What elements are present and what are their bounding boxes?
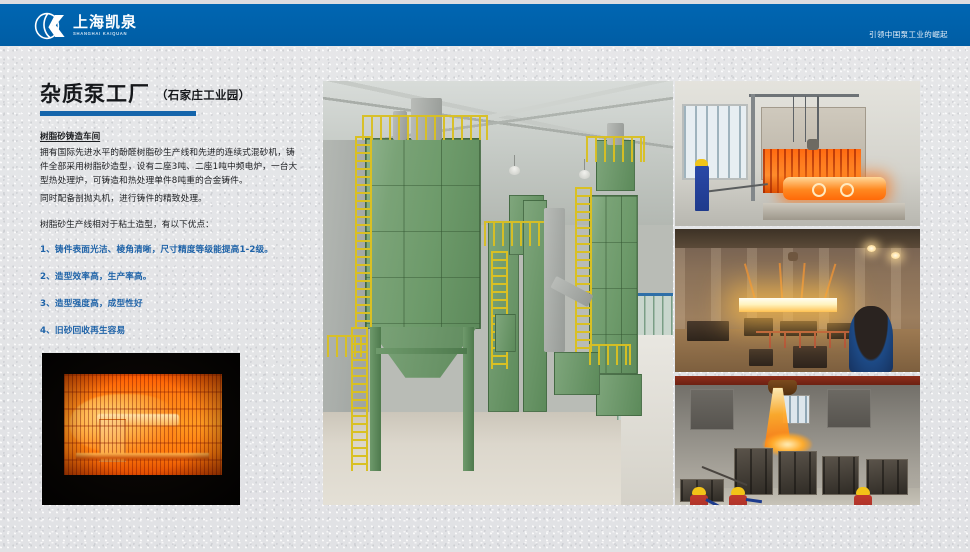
- sand-mold-box: [822, 456, 859, 495]
- safety-railing: [589, 344, 631, 365]
- list-item: 1、铸件表面光洁、棱角清晰，尺寸精度等级能提高1-2级。: [40, 244, 302, 257]
- worker: [695, 165, 709, 211]
- list-item: 3、造型强度高，成型性好: [40, 298, 302, 311]
- silo-panel-grid: [366, 139, 480, 328]
- section-heading: 树脂砂铸造车间: [40, 130, 302, 142]
- advantages-intro: 树脂砂生产线相对于粘土造型，有以下优点：: [40, 219, 302, 233]
- advantages-list: 1、铸件表面光洁、棱角清晰，尺寸精度等级能提高1-2级。 2、造型效率高，生产率…: [40, 244, 302, 338]
- wall-panel: [690, 389, 734, 430]
- mold-ribs: [823, 457, 858, 494]
- overhead-crane-girder: [675, 376, 920, 385]
- safety-helmet: [731, 487, 745, 495]
- safety-helmet: [692, 487, 706, 495]
- safety-helmet: [856, 487, 870, 495]
- kaiquan-k-logo-icon: [34, 12, 68, 40]
- shop-ceiling: [675, 229, 920, 248]
- sand-mold-box: [778, 451, 817, 495]
- silo-cross-brace: [376, 348, 467, 354]
- sand-silo-main: [365, 138, 481, 329]
- list-item: 2、造型效率高，生产率高。: [40, 271, 302, 284]
- brand-logo[interactable]: 上海凯泉 SHANGHAI KAIQUAN: [34, 12, 137, 40]
- crane-hook: [788, 252, 798, 261]
- brand-name-en: SHANGHAI KAIQUAN: [73, 32, 137, 36]
- slide-canvas: 上海凯泉 SHANGHAI KAIQUAN 引领中国泵工业的崛起 杂质泵工厂 （…: [0, 0, 970, 552]
- white-hot-workpiece: [739, 298, 837, 312]
- worker-torso: [854, 495, 872, 505]
- safety-railing: [586, 136, 646, 161]
- photo-vignette: [42, 353, 240, 505]
- right-machine-base: [596, 374, 642, 416]
- crane-cable: [793, 96, 795, 142]
- furnace-charge-table: [763, 203, 905, 220]
- stacked-mold-box: [749, 349, 774, 366]
- title-underline-rule: [40, 111, 196, 116]
- brand-wordmark: 上海凯泉 SHANGHAI KAIQUAN: [73, 15, 137, 36]
- photo-sand-plant: [323, 81, 673, 505]
- shop-window: [682, 104, 748, 179]
- wall-panel: [827, 389, 871, 428]
- list-item: 4、旧砂回收再生容易: [40, 325, 302, 338]
- worker-foreground: [849, 306, 893, 372]
- crane-cable: [817, 96, 819, 142]
- safety-railing: [327, 335, 362, 356]
- hall-lamp: [509, 166, 520, 175]
- stacked-mold-box: [687, 321, 729, 341]
- mold-ribs: [779, 452, 816, 494]
- photo-crane-lift: [675, 229, 920, 372]
- page-subtitle: （石家庄工业园）: [156, 87, 250, 105]
- access-ladder: [575, 187, 592, 357]
- body-paragraph-1: 拥有国际先进水平的酚醛树脂砂生产线和先进的连续式混砂机，铸件全部采用树脂砂造型，…: [40, 146, 302, 188]
- page-title: 杂质泵工厂: [40, 84, 150, 105]
- mold-ribs: [867, 460, 907, 494]
- body-paragraph-2: 同时配备剖抛丸机，进行铸件的精致处理。: [40, 192, 302, 206]
- safety-barrier: [756, 331, 859, 348]
- safety-railing: [362, 115, 488, 140]
- text-column: 杂质泵工厂 （石家庄工业园） 树脂砂铸造车间 拥有国际先进水平的酚醛树脂砂生产线…: [40, 84, 302, 352]
- stacked-mold-box: [793, 346, 827, 367]
- page-title-row: 杂质泵工厂 （石家庄工业园）: [40, 84, 302, 105]
- safety-helmet: [695, 159, 708, 166]
- header-tagline: 引领中国泵工业的崛起: [869, 29, 948, 40]
- photo-furnace-interior: [42, 353, 240, 505]
- ceiling-lamp: [867, 245, 876, 252]
- brand-name-cn: 上海凯泉: [73, 15, 137, 30]
- access-ladder: [355, 136, 372, 327]
- site-header: 上海凯泉 SHANGHAI KAIQUAN 引领中国泵工业的崛起: [0, 4, 970, 46]
- sand-mold-box: [866, 459, 908, 495]
- hall-lamp: [579, 170, 590, 179]
- crane-beam: [749, 94, 859, 97]
- crane-cable: [805, 96, 807, 142]
- discharge-hopper: [495, 314, 516, 352]
- crane-hook: [807, 139, 819, 150]
- red-hot-casting: [783, 177, 886, 200]
- photo-pouring: [675, 376, 920, 505]
- worker-torso: [729, 495, 747, 505]
- photo-furnace-unload: [675, 81, 920, 226]
